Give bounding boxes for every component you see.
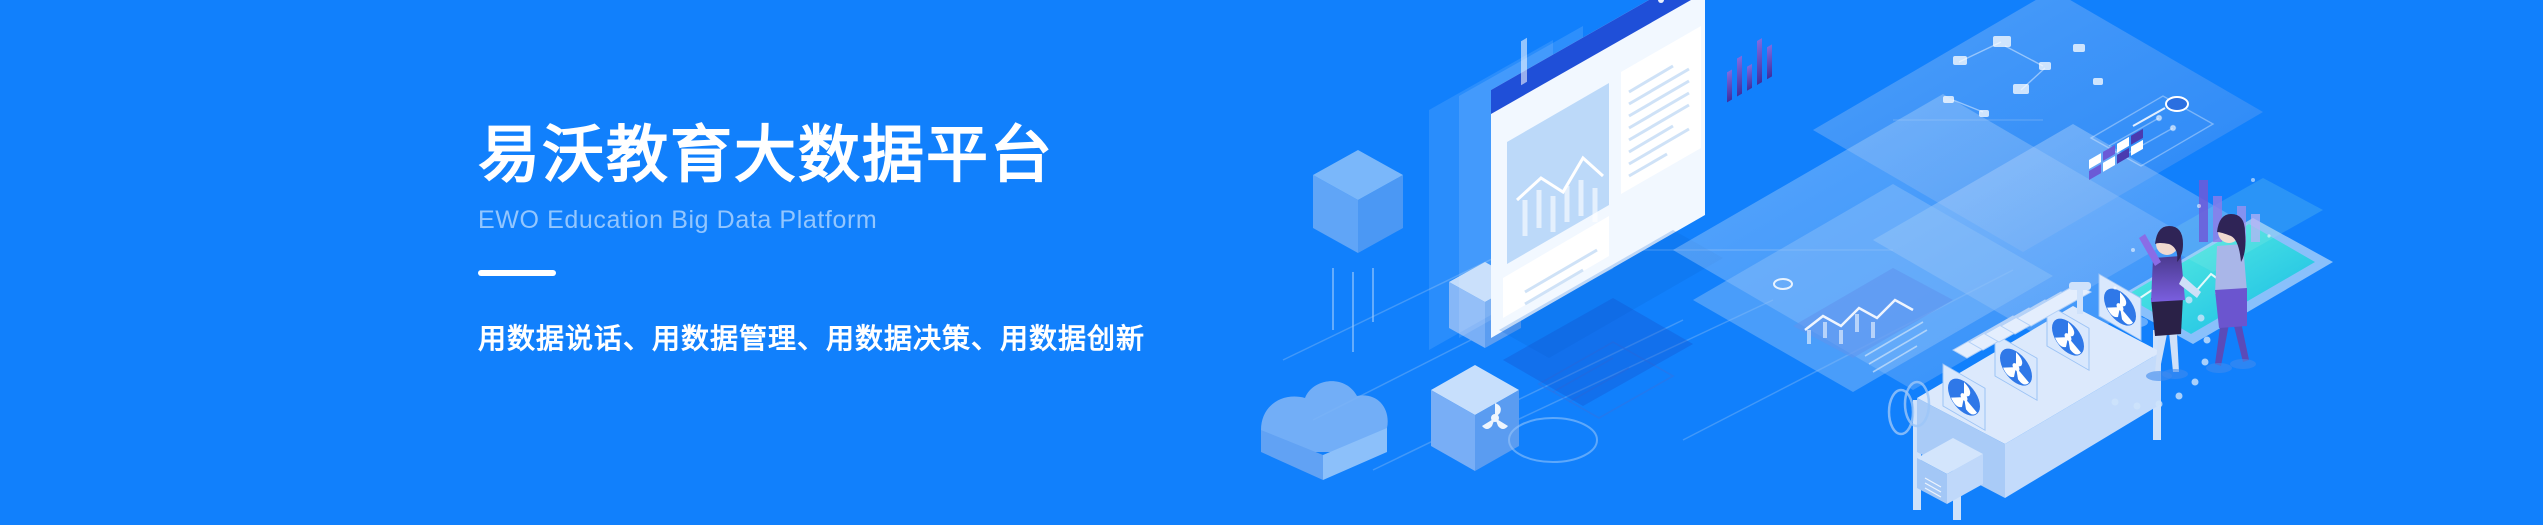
- server-cube-icon-upper: [1449, 262, 1521, 348]
- server-cube-icon-lower: [1431, 365, 1597, 471]
- legend-swatches: [2089, 97, 2188, 180]
- network-nodes: [1943, 36, 2103, 117]
- circuit-pattern-lower: [1539, 342, 1673, 418]
- person-right: [2206, 214, 2256, 373]
- title-divider: [478, 270, 556, 276]
- isometric-big-data-illustration: [1253, 0, 2373, 525]
- hero-text-block: 易沃教育大数据平台 EWO Education Big Data Platfor…: [478, 118, 1238, 358]
- data-cube-floating: [1313, 150, 1403, 352]
- glowing-tablet-screen: [2113, 178, 2333, 344]
- power-supply-box: [1917, 438, 1983, 504]
- cooling-fans: [1943, 274, 2141, 430]
- connection-lines: [1283, 120, 2043, 470]
- hero-banner: 易沃教育大数据平台 EWO Education Big Data Platfor…: [0, 0, 2543, 525]
- dotted-arc: [2112, 297, 2211, 410]
- server-rack: [1889, 274, 2161, 520]
- gpu-cards: [1953, 284, 2091, 358]
- isometric-platform: [1673, 0, 2263, 392]
- sparkle-dots: [2113, 178, 2270, 290]
- hero-slogan: 用数据说话、用数据管理、用数据决策、用数据创新: [478, 320, 1238, 358]
- line-chart: [1793, 268, 1953, 372]
- bar-chart: [1727, 38, 1792, 289]
- person-left: [2139, 226, 2201, 381]
- network-node-links: [1953, 42, 2045, 112]
- vertical-bars: [2199, 180, 2260, 242]
- circuit-pattern: [2091, 96, 2213, 166]
- page-title: 易沃教育大数据平台: [478, 118, 1238, 194]
- cloud-shape: [1261, 381, 1388, 480]
- browser-window-dashboard: [1429, 0, 1723, 358]
- page-subtitle: EWO Education Big Data Platform: [478, 204, 1238, 236]
